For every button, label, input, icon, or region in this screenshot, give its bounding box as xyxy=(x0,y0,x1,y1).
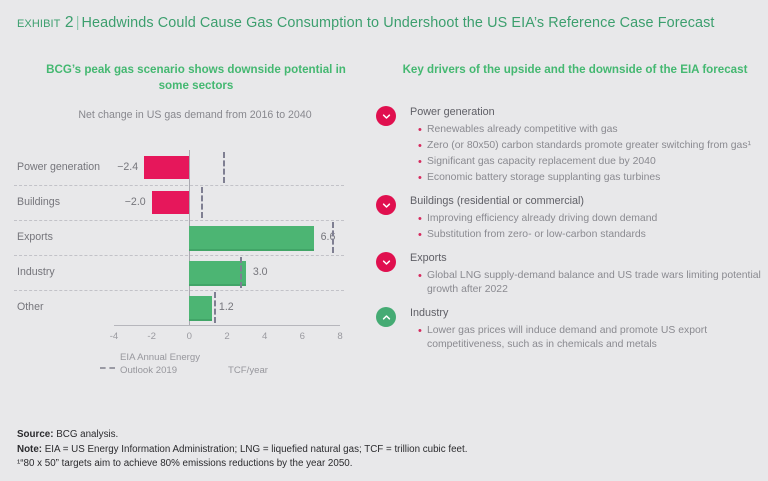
driver-bullet: Substitution from zero- or low-carbon st… xyxy=(418,228,768,242)
driver-title: Industry xyxy=(410,306,768,321)
chevron-down-circle-icon xyxy=(376,195,396,215)
driver-bullet: Global LNG supply-demand balance and US … xyxy=(418,269,768,297)
chart-bar xyxy=(189,296,212,321)
footnote-source-key: Source: xyxy=(17,429,53,440)
title-divider: | xyxy=(74,15,82,31)
chart-row-label: Buildings xyxy=(17,196,60,208)
page-title: Exhibit 2|Headwinds Could Cause Gas Cons… xyxy=(17,14,757,32)
x-axis-tick-label: -2 xyxy=(142,331,162,342)
footnote-source-text: BCG analysis. xyxy=(53,429,118,440)
footnote-note: Note: EIA = US Energy Information Admini… xyxy=(17,443,747,458)
chart-bar-value: −2.4 xyxy=(102,161,138,173)
x-axis-tick-label: 2 xyxy=(217,331,237,342)
driver-bullet-list: Improving efficiency already driving dow… xyxy=(370,212,768,242)
driver-title: Exports xyxy=(410,251,768,266)
footnote-one: ¹“80 x 50” targets aim to achieve 80% em… xyxy=(17,457,747,472)
driver-bullet-list: Lower gas prices will induce demand and … xyxy=(370,324,768,352)
chart-bar-value: 1.2 xyxy=(219,301,234,313)
x-axis: -4-202468 xyxy=(0,325,370,355)
chart-row: Industry3.0 xyxy=(0,255,370,290)
row-separator xyxy=(14,185,344,186)
left-panel-heading: BCG’s peak gas scenario shows downside p… xyxy=(36,62,356,94)
chart-bar-value: 3.0 xyxy=(253,266,268,278)
chart-legend: EIA Annual Energy Outlook 2019 TCF/year xyxy=(0,352,370,392)
chart-bar xyxy=(189,261,246,286)
chart-bar xyxy=(144,156,189,179)
driver-block: Buildings (residential or commercial)Imp… xyxy=(370,194,768,242)
legend-eia-label: EIA Annual Energy Outlook 2019 xyxy=(120,352,210,377)
chart-row: Other1.2 xyxy=(0,290,370,325)
chart-row-label: Other xyxy=(17,301,44,313)
chart-row-label: Industry xyxy=(17,266,55,278)
chevron-down-circle-icon xyxy=(376,252,396,272)
x-axis-tick-label: 4 xyxy=(255,331,275,342)
footnote-note-text: EIA = US Energy Information Administrati… xyxy=(42,444,467,455)
driver-bullet-list: Renewables already competitive with gasZ… xyxy=(370,123,768,185)
x-axis-tick-label: 6 xyxy=(292,331,312,342)
driver-title: Power generation xyxy=(410,105,768,120)
row-separator xyxy=(14,290,344,291)
chart-bar-value: −2.0 xyxy=(110,196,146,208)
driver-block: IndustryLower gas prices will induce dem… xyxy=(370,306,768,352)
right-panel-heading: Key drivers of the upside and the downsi… xyxy=(400,62,750,78)
eia-forecast-marker xyxy=(214,292,216,323)
footnote-note-key: Note: xyxy=(17,444,42,455)
x-axis-tick-label: 0 xyxy=(179,331,199,342)
row-separator xyxy=(14,255,344,256)
chart-bar xyxy=(189,226,313,251)
x-axis-tick-label: -4 xyxy=(104,331,124,342)
eia-forecast-marker xyxy=(332,222,334,253)
footnotes: Source: BCG analysis. Note: EIA = US Ene… xyxy=(17,428,747,472)
chart-bar xyxy=(152,191,190,214)
chart-plot-area: Power generation−2.4Buildings−2.0Exports… xyxy=(0,150,370,325)
driver-block: Power generationRenewables already compe… xyxy=(370,105,768,185)
driver-bullet: Lower gas prices will induce demand and … xyxy=(418,324,768,352)
driver-bullet: Significant gas capacity replacement due… xyxy=(418,155,768,169)
legend-units-label: TCF/year xyxy=(228,365,268,376)
x-axis-line xyxy=(114,325,340,326)
eia-forecast-marker xyxy=(201,187,203,218)
chart-row-label: Power generation xyxy=(17,161,100,173)
chart-subtitle: Net change in US gas demand from 2016 to… xyxy=(70,108,320,122)
driver-block: ExportsGlobal LNG supply-demand balance … xyxy=(370,251,768,297)
dashed-line-icon xyxy=(100,367,115,369)
eia-forecast-marker xyxy=(240,257,242,288)
driver-bullet: Economic battery storage supplanting gas… xyxy=(418,171,768,185)
chart-row-label: Exports xyxy=(17,231,53,243)
chevron-down-circle-icon xyxy=(376,106,396,126)
chart-row: Exports6.6 xyxy=(0,220,370,255)
exhibit-title-text: Headwinds Could Cause Gas Consumption to… xyxy=(82,15,715,31)
exhibit-label: Exhibit 2 xyxy=(17,14,74,31)
driver-bullet: Renewables already competitive with gas xyxy=(418,123,768,137)
chart-row: Buildings−2.0 xyxy=(0,185,370,220)
drivers-list: Power generationRenewables already compe… xyxy=(370,105,768,361)
bar-chart: Net change in US gas demand from 2016 to… xyxy=(0,100,370,390)
chart-row: Power generation−2.4 xyxy=(0,150,370,185)
driver-bullet: Improving efficiency already driving dow… xyxy=(418,212,768,226)
x-axis-tick-label: 8 xyxy=(330,331,350,342)
eia-forecast-marker xyxy=(223,152,225,183)
footnote-source: Source: BCG analysis. xyxy=(17,428,747,443)
row-separator xyxy=(14,220,344,221)
driver-bullet: Zero (or 80x50) carbon standards promote… xyxy=(418,139,768,153)
driver-title: Buildings (residential or commercial) xyxy=(410,194,768,209)
chevron-up-circle-icon xyxy=(376,307,396,327)
driver-bullet-list: Global LNG supply-demand balance and US … xyxy=(370,269,768,297)
